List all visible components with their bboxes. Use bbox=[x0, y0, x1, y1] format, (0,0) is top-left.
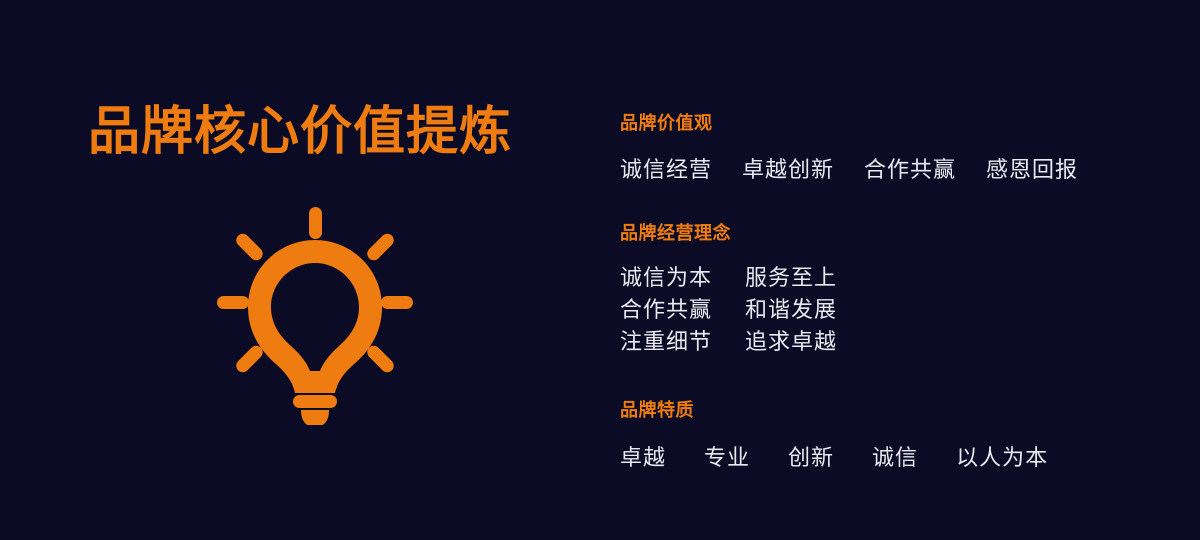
left-panel: 品牌核心价值提炼 bbox=[0, 0, 600, 540]
brand-value-item: 感恩回报 bbox=[986, 154, 1078, 186]
brand-philosophy-item: 诚信为本 bbox=[620, 262, 745, 294]
brand-value-item: 卓越创新 bbox=[742, 154, 834, 186]
brand-philosophy-rows: 诚信为本 服务至上 合作共赢 和谐发展 注重细节 追求卓越 bbox=[620, 262, 837, 358]
brand-philosophy-item: 服务至上 bbox=[745, 262, 837, 294]
right-panel: 品牌价值观 诚信经营 卓越创新 合作共赢 感恩回报 品牌经营理念 诚信为本 服务… bbox=[620, 0, 1180, 540]
brand-philosophy-row: 合作共赢 和谐发展 bbox=[620, 294, 837, 326]
brand-trait-item: 卓越 bbox=[620, 442, 666, 474]
brand-philosophy-row: 注重细节 追求卓越 bbox=[620, 326, 837, 358]
slide-canvas: 品牌核心价值提炼 bbox=[0, 0, 1200, 540]
brand-traits-item-row: 卓越 专业 创新 诚信 以人为本 bbox=[620, 442, 1048, 474]
brand-philosophy-row: 诚信为本 服务至上 bbox=[620, 262, 837, 294]
brand-philosophy-item: 追求卓越 bbox=[745, 326, 837, 358]
brand-trait-item: 专业 bbox=[704, 442, 750, 474]
section-brand-values: 品牌价值观 诚信经营 卓越创新 合作共赢 感恩回报 bbox=[620, 111, 1078, 186]
brand-values-item-row: 诚信经营 卓越创新 合作共赢 感恩回报 bbox=[620, 154, 1078, 186]
page-title: 品牌核心价值提炼 bbox=[0, 104, 600, 161]
brand-philosophy-item: 注重细节 bbox=[620, 326, 745, 358]
section-brand-traits: 品牌特质 卓越 专业 创新 诚信 以人为本 bbox=[620, 398, 1048, 474]
brand-philosophy-item: 合作共赢 bbox=[620, 294, 745, 326]
section-brand-philosophy: 品牌经营理念 诚信为本 服务至上 合作共赢 和谐发展 注重细节 追求卓越 bbox=[620, 221, 837, 358]
section-heading-brand-philosophy: 品牌经营理念 bbox=[620, 221, 837, 245]
brand-philosophy-item: 和谐发展 bbox=[745, 294, 837, 326]
brand-trait-item: 诚信 bbox=[872, 442, 918, 474]
brand-value-item: 合作共赢 bbox=[864, 154, 956, 186]
section-heading-brand-values: 品牌价值观 bbox=[620, 111, 1078, 135]
lightbulb-icon bbox=[215, 195, 415, 425]
section-heading-brand-traits: 品牌特质 bbox=[620, 398, 1048, 422]
brand-value-item: 诚信经营 bbox=[620, 154, 712, 186]
brand-trait-item: 以人为本 bbox=[956, 442, 1048, 474]
brand-trait-item: 创新 bbox=[788, 442, 834, 474]
